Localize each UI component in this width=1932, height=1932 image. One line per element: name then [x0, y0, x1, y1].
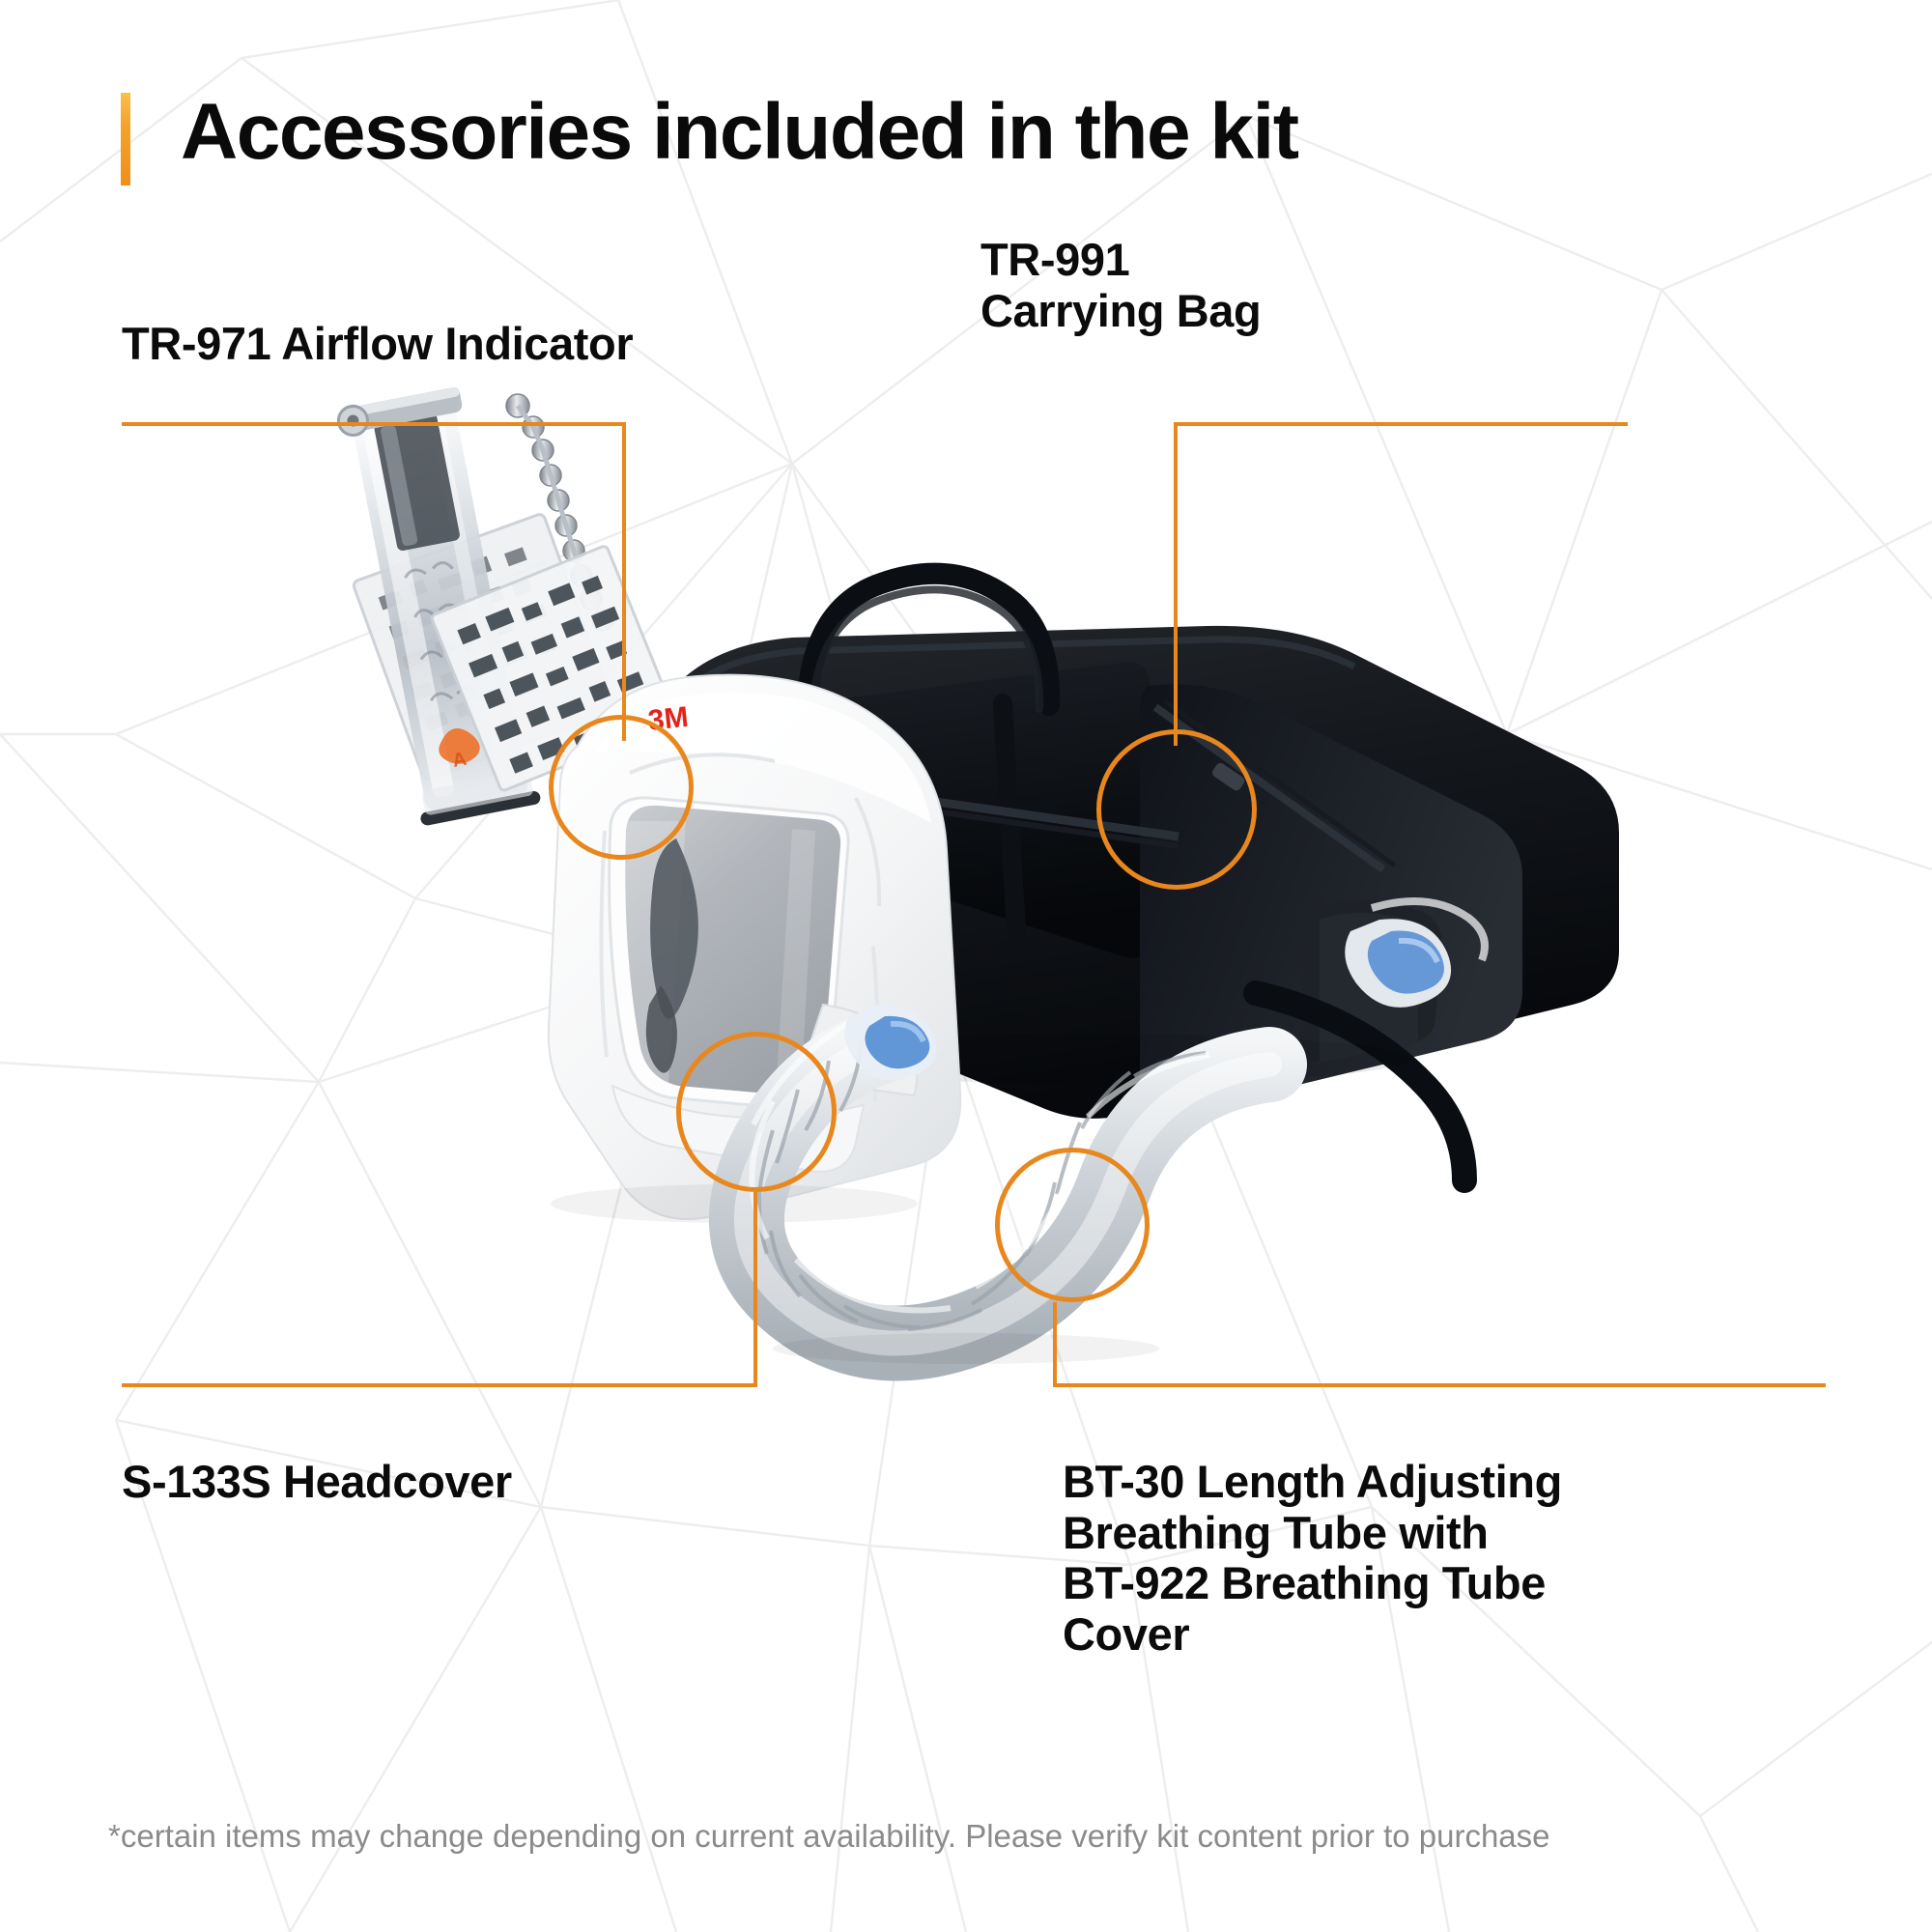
callout-label-bt-30-line3: BT-922 Breathing Tube — [1063, 1558, 1604, 1609]
infographic-canvas: A — [0, 0, 1932, 1932]
callout-label-tr-991: TR-991 Carrying Bag — [980, 235, 1425, 336]
leader-line-tr-991-horizontal — [1174, 422, 1628, 426]
callout-label-tr-971: TR-971 Airflow Indicator — [122, 319, 633, 370]
callout-ring-tr-991 — [1096, 729, 1257, 890]
callout-label-bt-30-line1: BT-30 Length Adjusting — [1063, 1457, 1604, 1508]
callout-label-bt-30: BT-30 Length Adjusting Breathing Tube wi… — [1063, 1457, 1604, 1661]
callout-label-tr-991-line2: Carrying Bag — [980, 286, 1425, 337]
callout-ring-bt-30 — [995, 1148, 1150, 1302]
ball-chain — [506, 394, 613, 631]
svg-text:A: A — [451, 749, 469, 772]
leader-line-s-133s-vertical — [753, 1192, 757, 1387]
callout-label-bt-30-line2: Breathing Tube with — [1063, 1508, 1604, 1559]
leader-line-tr-971-vertical — [622, 422, 626, 741]
callout-ring-tr-971 — [549, 715, 694, 860]
title-accent-bar — [121, 93, 130, 185]
leader-line-tr-971-horizontal — [122, 422, 626, 426]
page-header: Accessories included in the kit — [121, 93, 1298, 185]
callout-label-s-133s: S-133S Headcover — [122, 1457, 512, 1508]
callout-label-bt-30-line4: Cover — [1063, 1609, 1604, 1661]
leader-line-bt-30-vertical — [1053, 1302, 1057, 1387]
footer-disclaimer: *certain items may change depending on c… — [108, 1816, 1847, 1858]
product-breathing-tube — [747, 901, 1485, 1364]
leader-line-tr-991-vertical — [1174, 422, 1178, 746]
callout-ring-s-133s — [676, 1032, 837, 1192]
background-geometric-pattern — [0, 0, 1932, 1932]
callout-label-tr-991-line1: TR-991 — [980, 235, 1425, 286]
page-title: Accessories included in the kit — [181, 93, 1298, 172]
product-photo-group: A — [0, 367, 1932, 1391]
leader-line-s-133s-horizontal — [122, 1383, 757, 1387]
leader-line-bt-30-horizontal — [1053, 1383, 1826, 1387]
tube-connector-left — [844, 1005, 936, 1081]
tube-connector-right — [1345, 901, 1485, 1008]
